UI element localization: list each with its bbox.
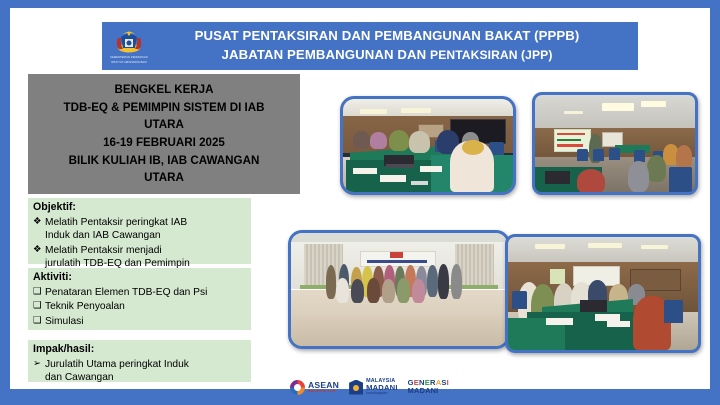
square-bullet-icon: ❑: [33, 315, 45, 328]
list-item: ❑ Penataran Elemen TDB-EQ dan Psi: [33, 286, 246, 299]
photo-scene: [535, 95, 695, 192]
workshop-title-line-3: 16-19 FEBRUARI 2025: [103, 134, 225, 152]
asean-logo-sub: MALAYSIA 2025: [308, 390, 339, 393]
section-aktiviti-item-1: Teknik Penyoalan: [45, 300, 246, 313]
header-title-line2: JABATAN PEMBANGUNAN DAN PENTAKSIRAN (JPP…: [154, 46, 620, 65]
kpm-iab-crest-logo: KEMENTERIAN PENDIDIKAN INSTITUT AMINUDDI…: [106, 25, 152, 67]
crest-caption-line1: KEMENTERIAN PENDIDIKAN: [110, 56, 148, 59]
photo-presentation-session: [532, 92, 698, 195]
section-aktiviti-heading: Aktiviti:: [33, 271, 246, 285]
photo-group-photo: [288, 230, 510, 349]
header-title-line2-a: JABATAN PEMBANGUNAN DAN: [222, 47, 431, 62]
section-aktiviti: Aktiviti: ❑ Penataran Elemen TDB-EQ dan …: [28, 268, 251, 330]
square-bullet-icon: ❑: [33, 286, 45, 299]
diamond-bullet-icon: ❖: [33, 244, 45, 257]
malaysia-madani-logo: MALAYSIA MADANI kepelbagaian: [349, 379, 398, 396]
photo-scene: [291, 233, 507, 346]
list-item: ➢ Jurulatih Utama peringkat Induk dan Ca…: [33, 358, 246, 385]
section-objektif-item-0: Melatih Pentaksir peringkat IAB Induk da…: [45, 216, 246, 243]
workshop-title-line-1: TDB-EQ & PEMIMPIN SISTEM DI IAB: [64, 99, 265, 117]
section-aktiviti-item-0: Penataran Elemen TDB-EQ dan Psi: [45, 286, 246, 299]
header-banner: KEMENTERIAN PENDIDIKAN INSTITUT AMINUDDI…: [102, 22, 638, 70]
section-objektif: Objektif: ❖ Melatih Pentaksir peringkat …: [28, 198, 251, 264]
section-impak-heading: Impak/hasil:: [33, 343, 246, 357]
diamond-bullet-icon: ❖: [33, 216, 45, 229]
photo-scene: [508, 237, 698, 350]
arrow-bullet-icon: ➢: [33, 358, 45, 371]
workshop-title-line-2: UTARA: [144, 116, 184, 134]
section-impak-item-0: Jurulatih Utama peringkat Induk dan Cawa…: [45, 358, 246, 385]
poster-page: KEMENTERIAN PENDIDIKAN INSTITUT AMINUDDI…: [10, 8, 710, 389]
asean-malaysia-2025-logo: ASEAN MALAYSIA 2025: [290, 380, 339, 395]
photo-scene: [343, 99, 513, 192]
workshop-title-line-0: BENGKEL KERJA: [115, 81, 214, 99]
workshop-title-line-5: UTARA: [144, 169, 184, 187]
section-impak: Impak/hasil: ➢ Jurulatih Utama peringkat…: [28, 340, 251, 382]
crest-caption-line2: INSTITUT AMINUDDIN BAKI: [111, 61, 147, 64]
generasi-logo-main: MADANI: [408, 387, 449, 395]
header-title: PUSAT PENTAKSIRAN DAN PEMBANGUNAN BAKAT …: [154, 27, 638, 64]
asean-swirl-icon: [290, 380, 305, 395]
footer-logo-row: ASEAN MALAYSIA 2025 MALAYSIA MADANI kepe…: [290, 375, 480, 399]
poster-canvas: KEMENTERIAN PENDIDIKAN INSTITUT AMINUDDI…: [0, 0, 720, 405]
generasi-madani-logo: GENERASI MADANI: [408, 379, 449, 395]
list-item: ❑ Teknik Penyoalan: [33, 300, 246, 313]
list-item: ❖ Melatih Pentaksir peringkat IAB Induk …: [33, 216, 246, 243]
asean-logo-main: ASEAN: [308, 381, 339, 390]
madani-emblem-icon: [349, 380, 363, 395]
malaysia-coat-of-arms-icon: [114, 28, 144, 55]
header-title-line2-b: PENTAKSIRAN (JPP): [430, 48, 552, 62]
workshop-title-box: BENGKEL KERJA TDB-EQ & PEMIMPIN SISTEM D…: [28, 74, 300, 194]
square-bullet-icon: ❑: [33, 300, 45, 313]
photo-participants-at-green-table: [340, 96, 516, 195]
photo-discussion-session: [505, 234, 701, 353]
section-aktiviti-item-2: Simulasi: [45, 315, 246, 328]
header-title-line1: PUSAT PENTAKSIRAN DAN PEMBANGUNAN BAKAT …: [154, 27, 620, 46]
workshop-title-line-4: BILIK KULIAH IB, IAB CAWANGAN: [69, 152, 260, 170]
madani-logo-sub: kepelbagaian: [366, 392, 398, 396]
list-item: ❑ Simulasi: [33, 315, 246, 328]
section-objektif-heading: Objektif:: [33, 201, 246, 215]
